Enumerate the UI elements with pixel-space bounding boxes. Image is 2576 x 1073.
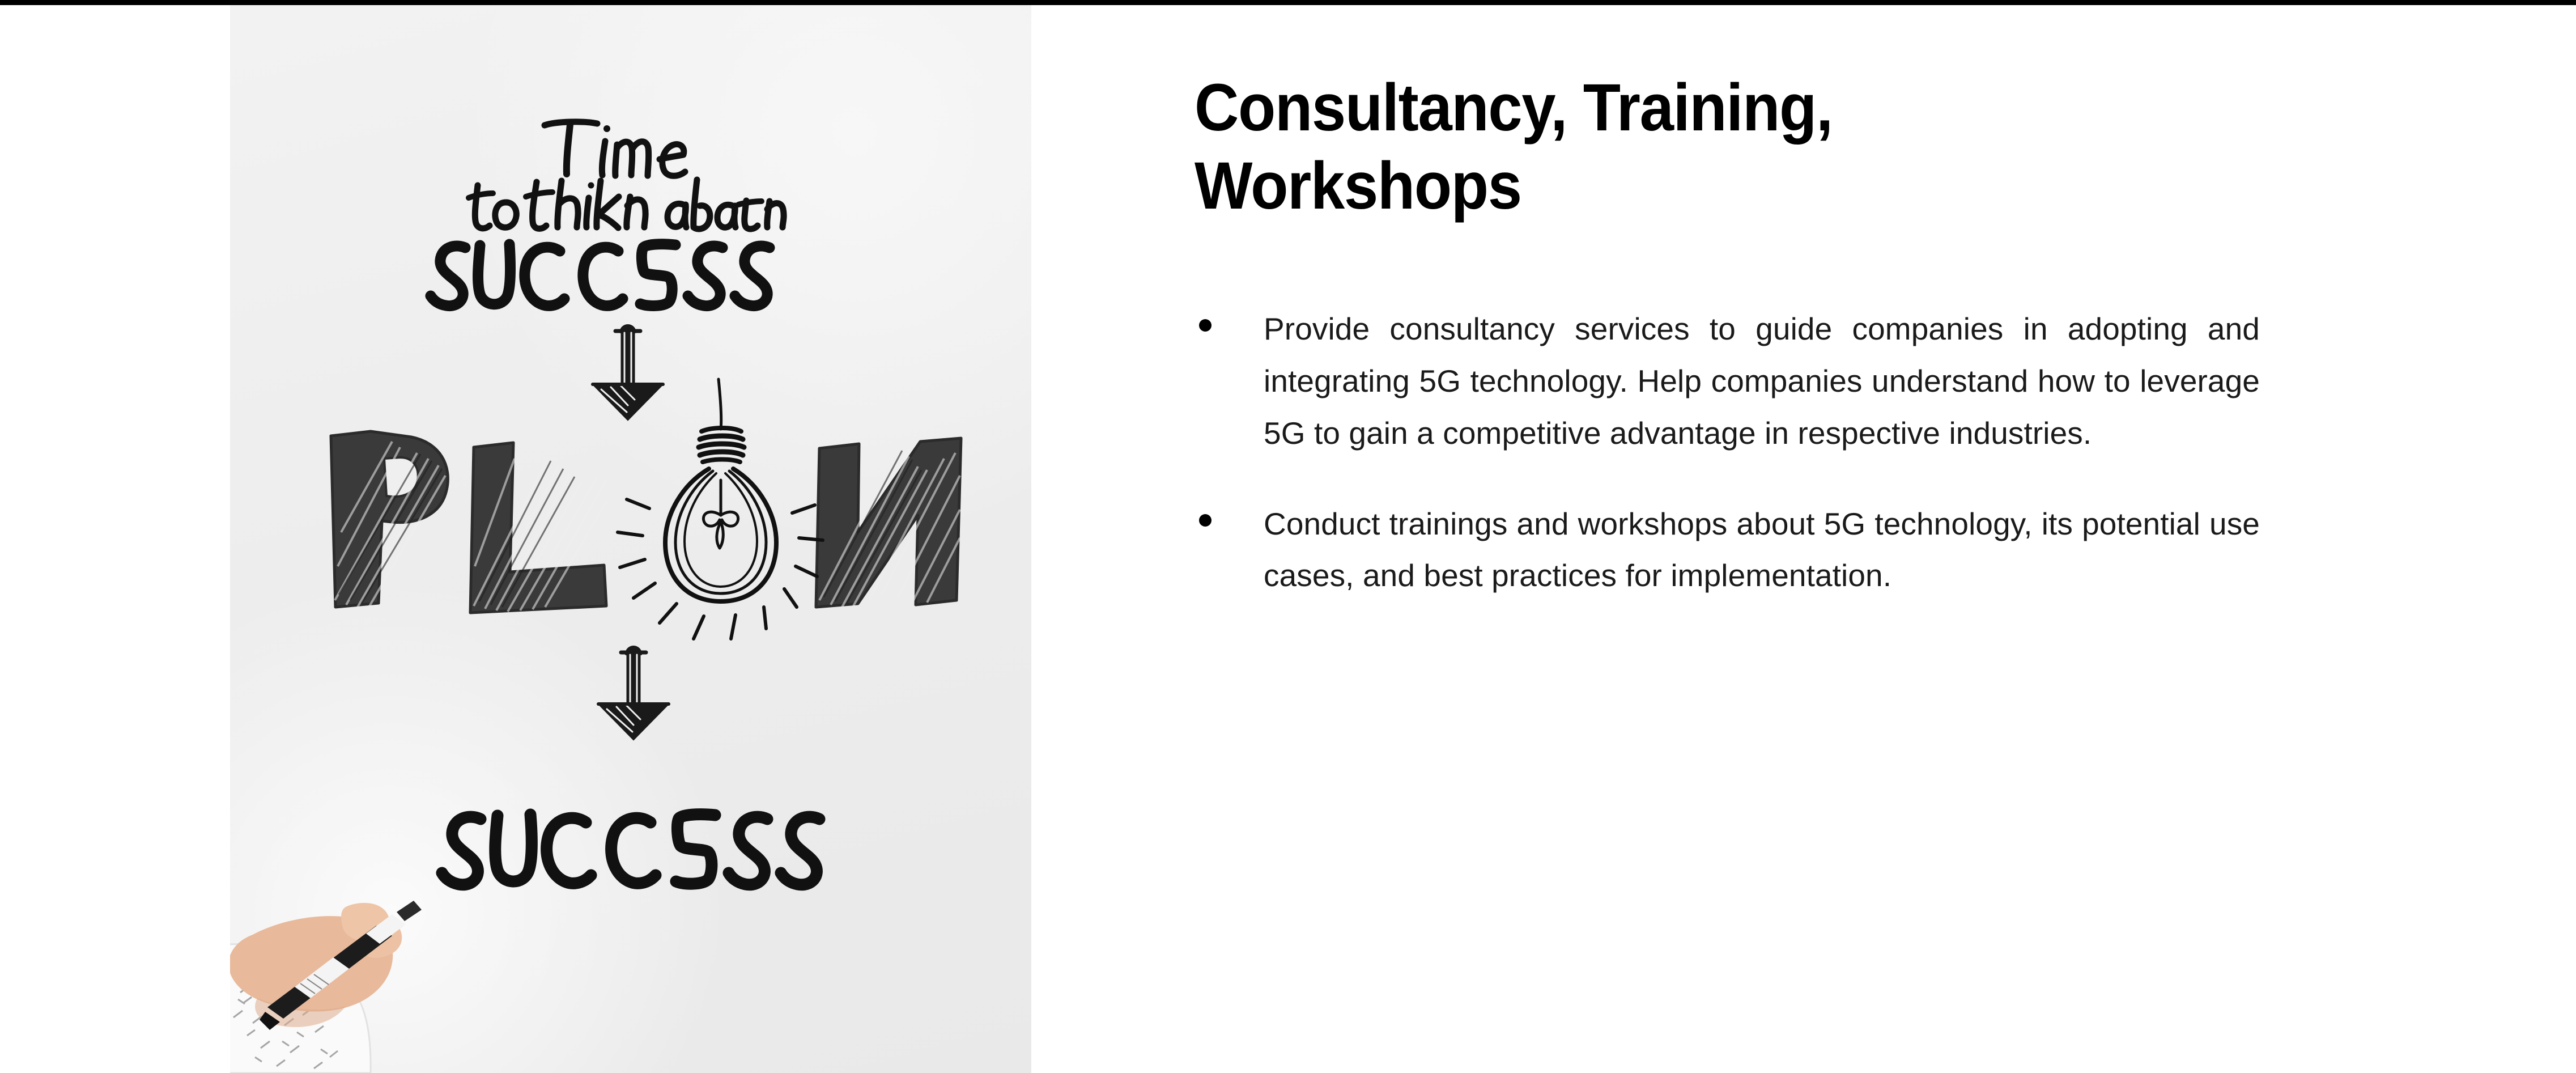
handwriting-plan <box>331 431 961 613</box>
bullet-list: Provide consultancy services to guide co… <box>1195 303 2260 602</box>
list-item-text: Provide consultancy services to guide co… <box>1264 303 2260 460</box>
list-item-text: Conduct trainings and workshops about 5G… <box>1264 498 2260 603</box>
bullet-dot-icon <box>1199 319 1212 332</box>
hand-with-marker-icon <box>230 901 422 1073</box>
down-arrow-icon-top <box>593 331 663 419</box>
lightbulb-icon <box>618 379 823 639</box>
whiteboard-drawing <box>230 5 1031 1073</box>
page-title: Consultancy, Training, Workshops <box>1195 69 2112 225</box>
handwriting-time <box>545 122 685 176</box>
handwriting-success-top <box>431 244 770 306</box>
slide-photo <box>230 5 1031 1073</box>
handwriting-to-think-about <box>469 180 784 229</box>
slide-content: Consultancy, Training, Workshops Provide… <box>1195 0 2260 1073</box>
handwriting-success-bottom <box>442 815 819 885</box>
list-item: Conduct trainings and workshops about 5G… <box>1195 498 2260 603</box>
list-item: Provide consultancy services to guide co… <box>1195 303 2260 460</box>
down-arrow-icon-bottom <box>598 652 669 739</box>
bullet-dot-icon <box>1199 514 1212 527</box>
